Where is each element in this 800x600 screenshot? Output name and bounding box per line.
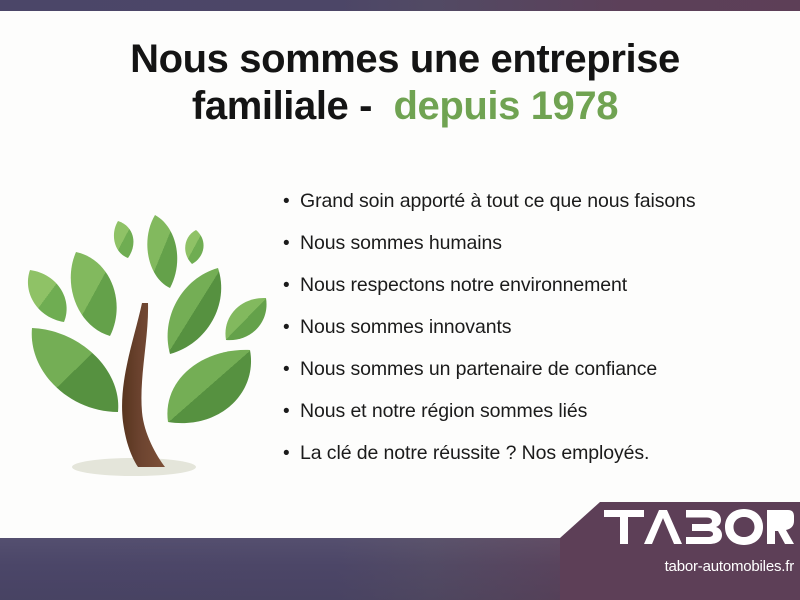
list-item: • Nous sommes humains [283, 232, 783, 274]
tree-trunk [122, 303, 165, 467]
bullet-marker-icon: • [283, 276, 300, 295]
bullet-marker-icon: • [283, 360, 300, 379]
tree-leaf-upper-right [168, 268, 222, 354]
tree-leaf-center [147, 215, 177, 288]
list-item-label: Nous sommes un partenaire de confiance [300, 358, 657, 381]
tree-icon [22, 172, 274, 492]
list-item: • Grand soin apporté à tout ce que nous … [283, 190, 783, 232]
bullet-marker-icon: • [283, 192, 300, 211]
tree-illustration [22, 172, 274, 492]
list-item-label: Grand soin apporté à tout ce que nous fa… [300, 190, 696, 213]
list-item: • La clé de notre réussite ? Nos employé… [283, 442, 783, 484]
tree-leaf-lower-right [167, 350, 251, 423]
list-item: • Nous respectons notre environnement [283, 274, 783, 316]
tree-leaf-right-small [225, 298, 266, 340]
list-item-label: Nous et notre région sommes liés [300, 400, 587, 423]
bullet-marker-icon: • [283, 402, 300, 421]
title-word-familiale: familiale [192, 84, 348, 128]
title-line-1: Nous sommes une entreprise [60, 36, 750, 83]
bullet-marker-icon: • [283, 234, 300, 253]
tabor-wordmark-logo [604, 508, 794, 546]
list-item-label: La clé de notre réussite ? Nos employés. [300, 442, 649, 465]
value-proposition-list: • Grand soin apporté à tout ce que nous … [283, 190, 783, 484]
page-title: Nous sommes une entreprise familiale - d… [60, 36, 750, 130]
tree-shadow [72, 458, 196, 476]
tree-leaf-left-small [28, 270, 67, 322]
title-line-2: familiale - depuis 1978 [60, 83, 750, 130]
tree-leaf-lower-left [32, 328, 119, 412]
top-accent-band [0, 0, 800, 11]
bullet-marker-icon: • [283, 444, 300, 463]
title-dash: - [348, 84, 393, 128]
list-item: • Nous sommes innovants [283, 316, 783, 358]
list-item: • Nous et notre région sommes liés [283, 400, 783, 442]
list-item-label: Nous sommes innovants [300, 316, 511, 339]
bullet-marker-icon: • [283, 318, 300, 337]
logo-url-label: tabor-automobiles.fr [560, 558, 800, 575]
list-item-label: Nous respectons notre environnement [300, 274, 627, 297]
list-item-label: Nous sommes humains [300, 232, 502, 255]
title-accent-since: depuis 1978 [393, 84, 618, 128]
list-item: • Nous sommes un partenaire de confiance [283, 358, 783, 400]
slide-canvas: Nous sommes une entreprise familiale - d… [0, 0, 800, 600]
tree-leaf-upper-left [71, 252, 117, 336]
